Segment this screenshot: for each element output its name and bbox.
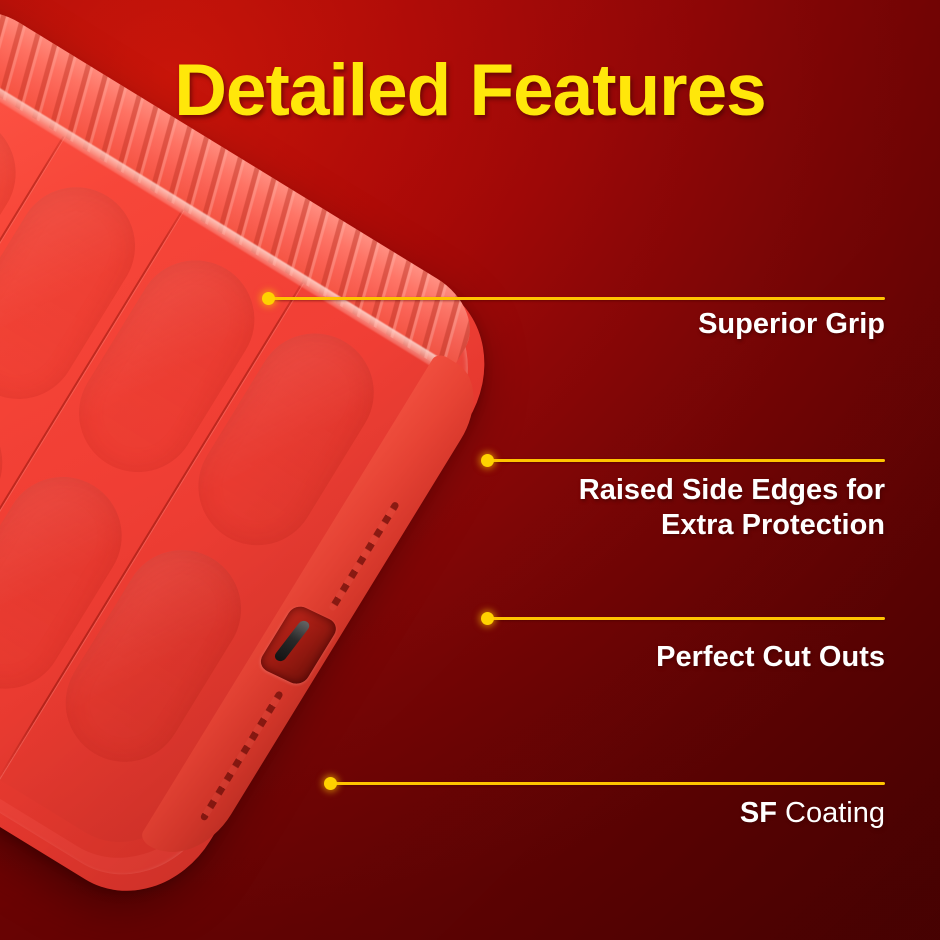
feature-infographic: Detailed Features Superior Grip Raised S… — [0, 0, 940, 940]
page-title: Detailed Features — [0, 54, 940, 128]
callout-label-sf-coating-bold: SF — [740, 797, 777, 829]
phone-case — [0, 0, 519, 924]
callout-leader-line-sf-coating — [330, 782, 885, 785]
callout-label-sf-coating: SF Coating — [740, 796, 885, 830]
callout-label-sf-coating-rest: Coating — [777, 797, 885, 829]
callout-dot-sf-coating — [324, 777, 337, 790]
callout-label-perfect-cut-outs: Perfect Cut Outs — [656, 640, 885, 674]
product-image-phone-case — [0, 105, 600, 925]
callout-label-superior-grip: Superior Grip — [698, 307, 885, 341]
charging-port-slot — [273, 619, 312, 663]
callout-dot-perfect-cut-outs — [481, 612, 494, 625]
callout-leader-line-raised-side-edges — [487, 459, 885, 462]
callout-dot-raised-side-edges — [481, 454, 494, 467]
callout-leader-line-superior-grip — [268, 297, 885, 300]
callout-leader-line-perfect-cut-outs — [487, 617, 885, 620]
callout-dot-superior-grip — [262, 292, 275, 305]
speaker-grille-holes — [328, 501, 400, 612]
callout-label-raised-side-edges: Raised Side Edges for Extra Protection — [579, 473, 885, 543]
